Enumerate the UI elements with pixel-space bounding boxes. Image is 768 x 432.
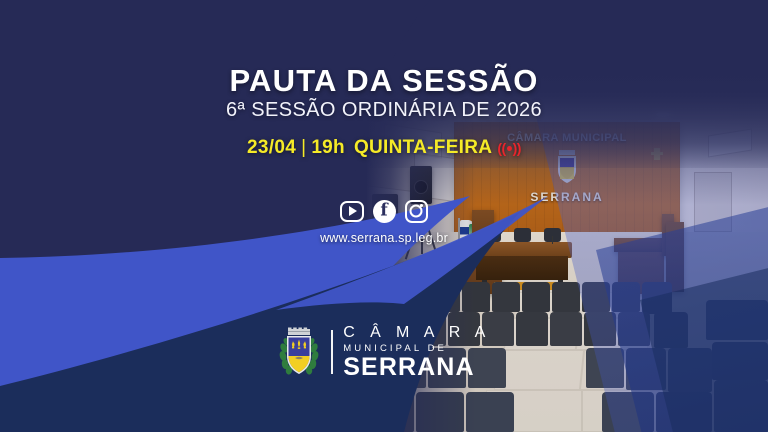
session-date: 23/04 <box>247 137 296 159</box>
social-links <box>0 199 768 223</box>
facebook-icon[interactable] <box>372 199 396 223</box>
instagram-icon[interactable] <box>404 199 428 223</box>
youtube-icon[interactable] <box>340 199 364 223</box>
session-datetime: 23/04 | 19h QUINTA-FEIRA (()) <box>0 137 768 159</box>
session-time: 19h <box>311 137 345 159</box>
session-agenda-banner: CÂMARA MUNICIPAL SERRANA <box>0 0 768 432</box>
page-title: PAUTA DA SESSÃO <box>0 63 768 99</box>
date-time-separator: | <box>296 137 311 159</box>
logo-line-serrana: SERRANA <box>343 355 490 380</box>
website-url[interactable]: www.serrana.sp.leg.br <box>0 231 768 245</box>
live-broadcast-icon: (()) <box>497 141 521 155</box>
logo-line-camara: C Â M A R A <box>343 325 490 341</box>
logo-divider <box>331 330 333 374</box>
session-subtitle: 6ª SESSÃO ORDINÁRIA DE 2026 <box>0 99 768 122</box>
camara-logo: C Â M A R A MUNICIPAL DE SERRANA <box>0 325 768 380</box>
serrana-coat-of-arms-icon <box>277 326 321 378</box>
session-weekday: QUINTA-FEIRA <box>354 137 492 159</box>
